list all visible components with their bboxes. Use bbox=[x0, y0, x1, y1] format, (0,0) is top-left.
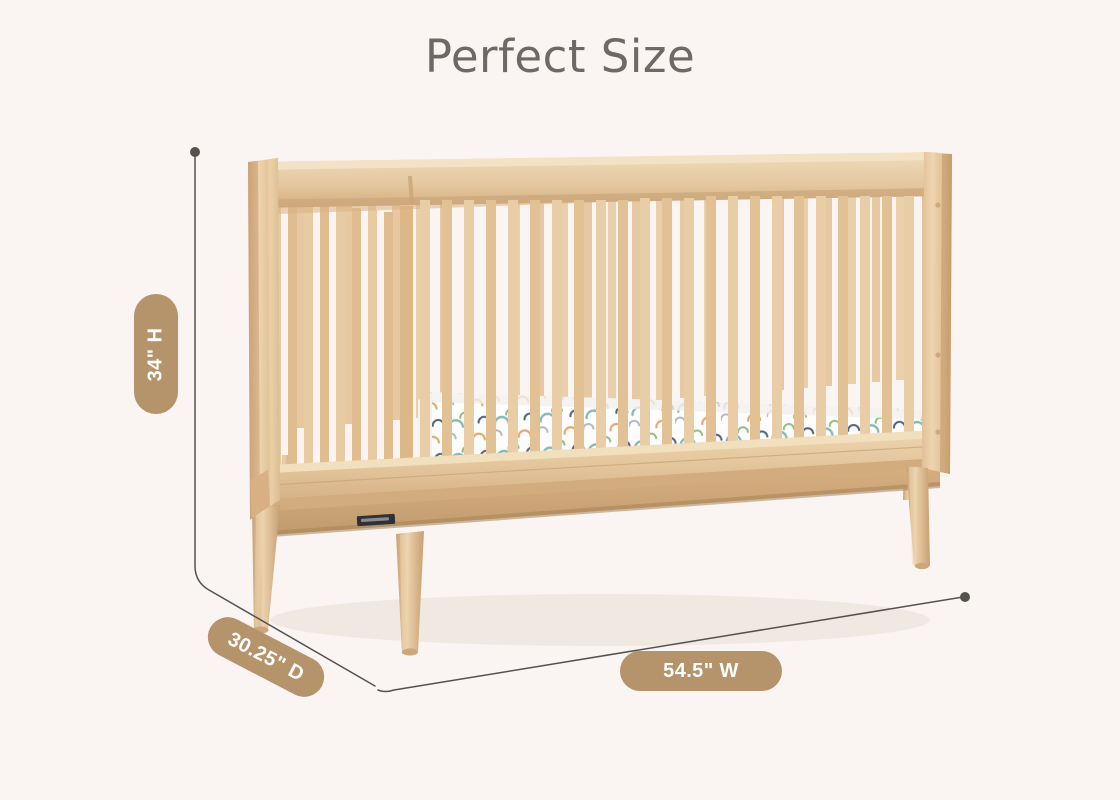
product-dimension-diagram: Perfect Size bbox=[0, 0, 1120, 800]
crib-left-corner-post bbox=[248, 158, 280, 520]
crib-right-corner-post bbox=[922, 152, 952, 474]
dimension-label-height-text: 34" H bbox=[145, 327, 168, 381]
crib-front-top-rail bbox=[248, 152, 942, 208]
crib-leg-front-left bbox=[252, 505, 280, 634]
crib-leg-right-rear bbox=[906, 466, 930, 569]
dimension-label-width-text: 54.5" W bbox=[663, 660, 739, 683]
dimension-label-width: 54.5" W bbox=[620, 651, 782, 691]
dimension-label-height: 34" H bbox=[134, 294, 178, 414]
